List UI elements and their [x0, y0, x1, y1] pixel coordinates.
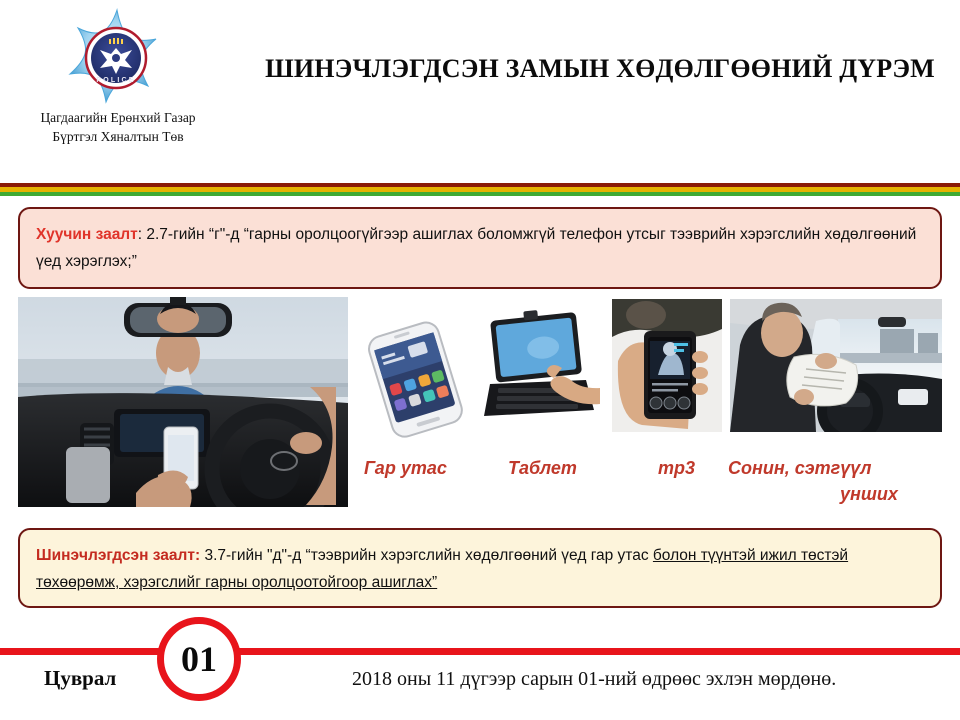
caption-tablet: Таблет: [508, 458, 577, 479]
caption-phone: Гар утас: [364, 458, 447, 479]
mp3-player-photo: [612, 299, 722, 432]
driver-using-phone-photo: [18, 297, 348, 507]
old-clause-text: Хуучин заалт: 2.7-гийн “г"-д “гарны орол…: [36, 221, 926, 275]
series-label: Цуврал: [44, 666, 116, 691]
police-star-icon: POLICE: [52, 8, 182, 116]
tricolor-divider: [0, 183, 960, 196]
organization-line-1: Цагдаагийн Ерөнхий Газар: [0, 108, 236, 127]
effective-date-text: 2018 оны 11 дүгээр сарын 01-ний өдрөөс э…: [352, 668, 952, 691]
new-clause-separator: :: [195, 547, 200, 564]
tablet-with-keyboard-photo: [482, 300, 600, 445]
new-clause-callout: Шинэчлэгдсэн заалт: 3.7-гийн "д"-д “тээв…: [18, 528, 942, 608]
organization-line-2: Бүртгэл Хяналтын Төв: [0, 127, 236, 146]
old-clause-label: Хуучин заалт: [36, 226, 138, 243]
driver-reading-newspaper-photo: [730, 299, 942, 432]
old-clause-callout: Хуучин заалт: 2.7-гийн “г"-д “гарны орол…: [18, 207, 942, 289]
new-clause-text: Шинэчлэгдсэн заалт: 3.7-гийн "д"-д “тээв…: [36, 542, 926, 596]
page-title: ШИНЭЧЛЭГДСЭН ЗАМЫН ХӨДӨЛГӨӨНИЙ ДҮРЭМ: [250, 52, 950, 85]
old-clause-line-1: 2.7-гийн “г"-д “гарны оролцоогүйгээр аши…: [146, 226, 665, 243]
slide-root: POLICE Цагдаагийн Ерөнхий Газар Бүртгэл …: [0, 0, 960, 720]
old-clause-separator: :: [138, 226, 142, 243]
caption-newspaper-line-2: унших: [840, 484, 898, 505]
caption-mp3: mp3: [658, 458, 695, 479]
series-number: 01: [164, 624, 234, 694]
footer-red-rule: [0, 648, 960, 655]
organization-name: Цагдаагийн Ерөнхий Газар Бүртгэл Хяналты…: [0, 108, 236, 146]
new-clause-line-1: 3.7-гийн "д"-д “тээврийн хэрэгслийн хөдө…: [204, 547, 648, 564]
series-number-badge: 01: [157, 617, 241, 701]
new-clause-label: Шинэчлэгдсэн заалт: [36, 547, 195, 564]
mobile-phone-photo: [358, 300, 476, 445]
photo-captions: Гар утас Таблет mp3 Сонин, сэтгүүл унших: [350, 452, 950, 514]
emblem-police-text: POLICE: [96, 77, 135, 84]
caption-newspaper-line-1: Сонин, сэтгүүл: [728, 458, 872, 479]
stripe-green: [0, 192, 960, 196]
